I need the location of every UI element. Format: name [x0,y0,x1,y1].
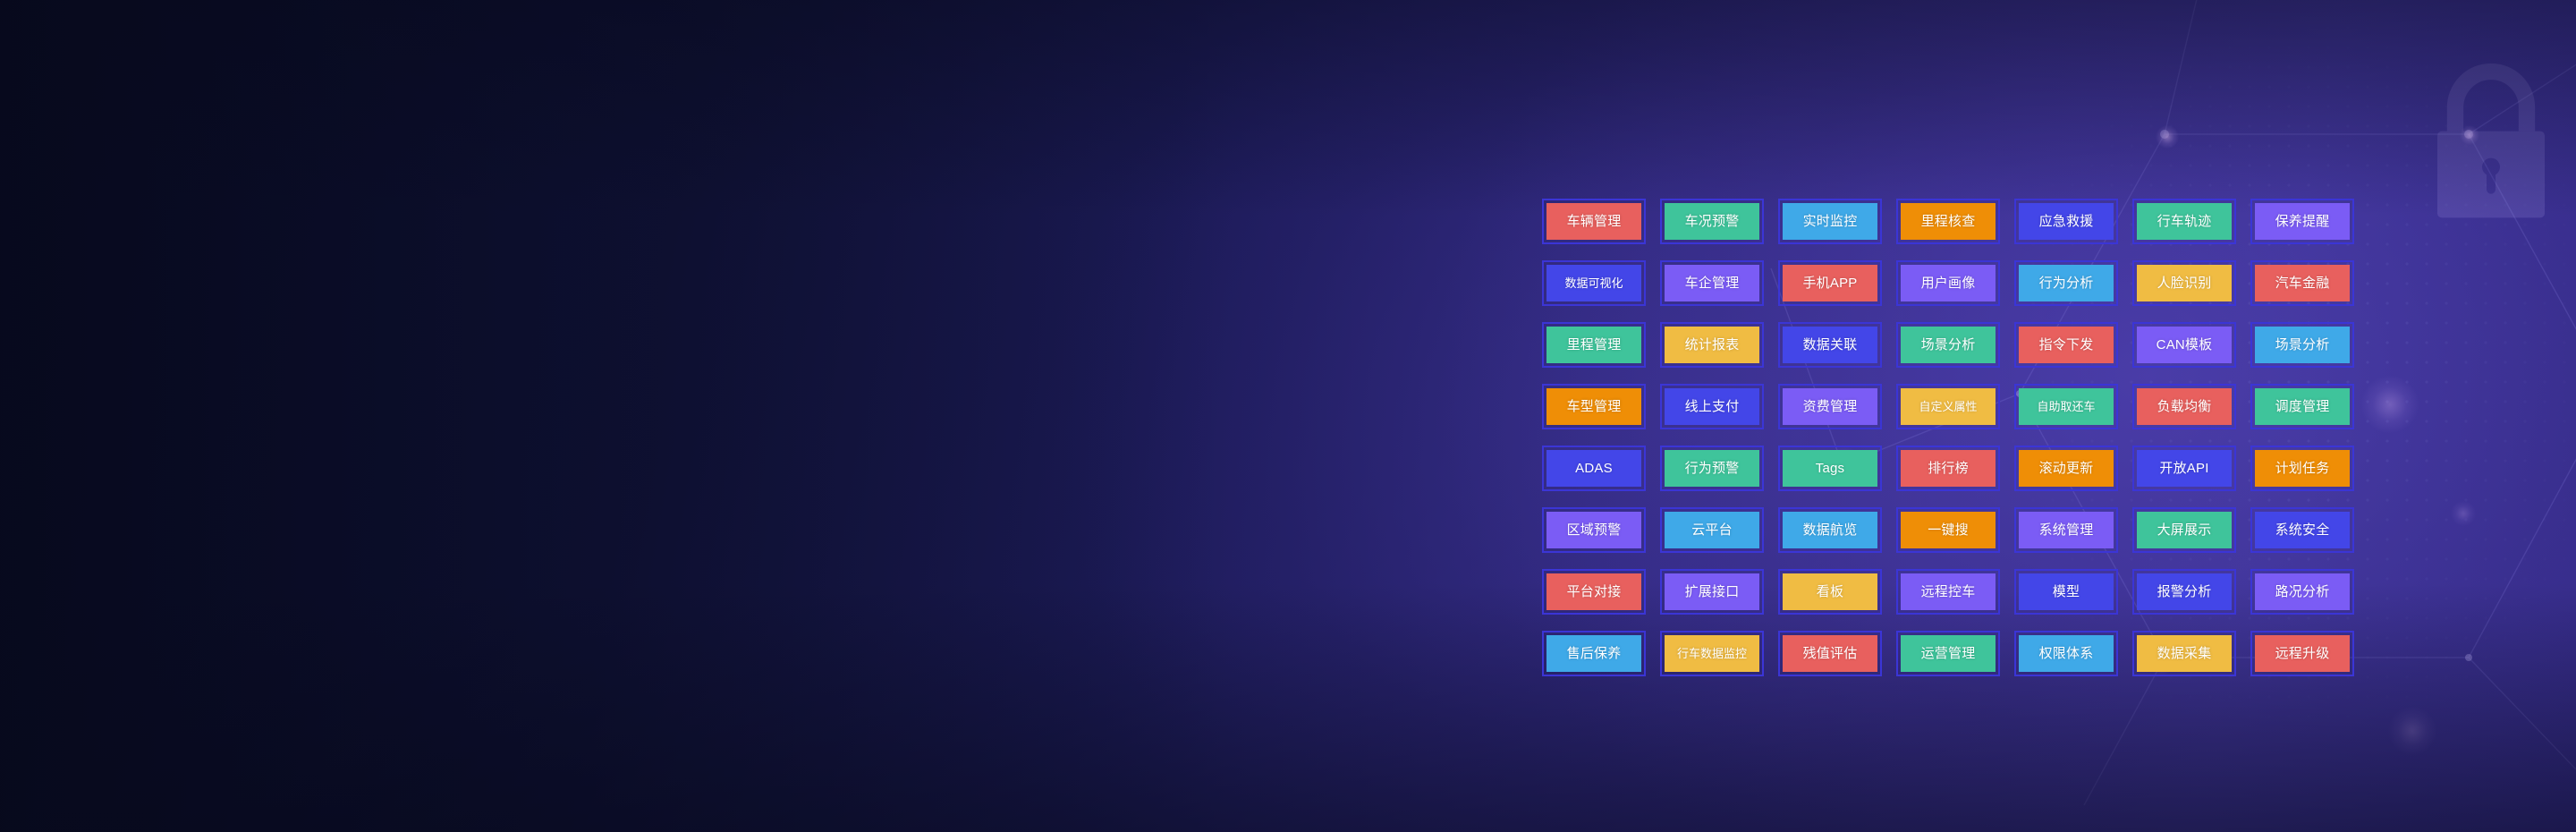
glow-node [2388,707,2436,755]
tag-behavior-alert[interactable]: 行为预警 [1653,437,1771,499]
tag-frame: 行车数据监控 [1660,631,1764,676]
tag-label: 车辆管理 [1546,203,1641,240]
tag-frame: 运营管理 [1896,631,2000,676]
tag-remote-upgrade[interactable]: 远程升级 [2243,623,2361,684]
tag-label: ADAS [1546,450,1641,487]
glow-node [2156,125,2179,149]
tag-label: 报警分析 [2137,573,2232,610]
tag-label: 运营管理 [1901,635,1996,672]
tag-adas[interactable]: ADAS [1535,437,1653,499]
tag-label: 里程管理 [1546,327,1641,363]
tag-can-template[interactable]: CAN模板 [2125,314,2243,376]
tag-label: 开放API [2137,450,2232,487]
tag-label: 数据采集 [2137,635,2232,672]
tag-frame: 手机APP [1778,260,1882,306]
tag-frame: 系统安全 [2250,507,2354,553]
tag-road-condition-analysis[interactable]: 路况分析 [2243,561,2361,623]
tag-frame: 数据关联 [1778,322,1882,368]
tag-frame: 数据航览 [1778,507,1882,553]
feature-tag-grid: 车辆管理车况预警实时监控里程核查应急救援行车轨迹保养提醒数据可视化车企管理手机A… [1535,191,2361,684]
tag-maintenance-reminder[interactable]: 保养提醒 [2243,191,2361,252]
tag-label: 指令下发 [2019,327,2114,363]
tag-scheduled-task[interactable]: 计划任务 [2243,437,2361,499]
tag-label: 数据关联 [1783,327,1877,363]
glow-node [2460,125,2479,145]
tag-label: 汽车金融 [2255,265,2350,301]
tag-frame: 数据采集 [2132,631,2236,676]
tag-frame: 行为预警 [1660,446,1764,491]
tag-tags[interactable]: Tags [1771,437,1889,499]
tag-command-dispatch[interactable]: 指令下发 [2007,314,2125,376]
tag-frame: 权限体系 [2014,631,2118,676]
tag-vehicle-management[interactable]: 车辆管理 [1535,191,1653,252]
tag-frame: 线上支付 [1660,384,1764,429]
tag-label: 平台对接 [1546,573,1641,610]
tag-label: 路况分析 [2255,573,2350,610]
tag-platform-integration[interactable]: 平台对接 [1535,561,1653,623]
screenshot-stage: 车辆管理车况预警实时监控里程核查应急救援行车轨迹保养提醒数据可视化车企管理手机A… [0,0,2576,832]
tag-frame: 滚动更新 [2014,446,2118,491]
tag-frame: 负载均衡 [2132,384,2236,429]
tag-frame: Tags [1778,446,1882,491]
tag-automaker-management[interactable]: 车企管理 [1653,252,1771,314]
tag-label: 行为预警 [1665,450,1759,487]
tag-frame: 调度管理 [2250,384,2354,429]
tag-frame: 残值评估 [1778,631,1882,676]
tag-label: 统计报表 [1665,327,1759,363]
tag-one-click-search[interactable]: 一键搜 [1889,499,2007,561]
tag-label: Tags [1783,450,1877,487]
tag-label: 手机APP [1783,265,1877,301]
tag-frame: 路况分析 [2250,569,2354,615]
tag-driving-data-monitoring[interactable]: 行车数据监控 [1653,623,1771,684]
tag-label: 残值评估 [1783,635,1877,672]
tag-frame: 汽车金融 [2250,260,2354,306]
tag-mobile-app[interactable]: 手机APP [1771,252,1889,314]
tag-label: 车型管理 [1546,388,1641,425]
tag-label: 一键搜 [1901,512,1996,548]
tag-remote-vehicle-control[interactable]: 远程控车 [1889,561,2007,623]
tag-label: 行为分析 [2019,265,2114,301]
tag-label: 数据可视化 [1546,265,1641,301]
tag-data-collection[interactable]: 数据采集 [2125,623,2243,684]
tag-frame: 扩展接口 [1660,569,1764,615]
tag-dispatch-management[interactable]: 调度管理 [2243,376,2361,437]
tag-frame: 远程升级 [2250,631,2354,676]
tag-frame: 排行榜 [1896,446,2000,491]
tag-frame: 指令下发 [2014,322,2118,368]
tag-frame: 里程核查 [1896,199,2000,244]
tag-frame: 开放API [2132,446,2236,491]
tag-frame: 一键搜 [1896,507,2000,553]
tag-label: 车企管理 [1665,265,1759,301]
tag-label: 行车数据监控 [1665,635,1759,672]
tag-label: 用户画像 [1901,265,1996,301]
tag-statistical-report[interactable]: 统计报表 [1653,314,1771,376]
tag-frame: 车型管理 [1542,384,1646,429]
tag-after-sales-maintenance[interactable]: 售后保养 [1535,623,1653,684]
tag-cloud-platform[interactable]: 云平台 [1653,499,1771,561]
tag-label: 行车轨迹 [2137,203,2232,240]
tag-label: 滚动更新 [2019,450,2114,487]
tag-label: 自助取还车 [2019,388,2114,425]
tag-frame: 用户画像 [1896,260,2000,306]
tag-frame: 实时监控 [1778,199,1882,244]
tag-frame: 自助取还车 [2014,384,2118,429]
tag-mileage-management[interactable]: 里程管理 [1535,314,1653,376]
tag-scenario-analysis[interactable]: 场景分析 [1889,314,2007,376]
tag-label: 线上支付 [1665,388,1759,425]
tag-frame: 车辆管理 [1542,199,1646,244]
tag-label: CAN模板 [2137,327,2232,363]
lock-icon [2415,54,2567,233]
tag-label: 人脸识别 [2137,265,2232,301]
tag-label: 模型 [2019,573,2114,610]
tag-realtime-monitoring[interactable]: 实时监控 [1771,191,1889,252]
tag-label: 场景分析 [2255,327,2350,363]
tag-behavior-analysis[interactable]: 行为分析 [2007,252,2125,314]
tag-data-visualization[interactable]: 数据可视化 [1535,252,1653,314]
tag-label: 远程升级 [2255,635,2350,672]
tag-tariff-management[interactable]: 资费管理 [1771,376,1889,437]
tag-frame: 车企管理 [1660,260,1764,306]
tag-system-security[interactable]: 系统安全 [2243,499,2361,561]
tag-auto-finance[interactable]: 汽车金融 [2243,252,2361,314]
tag-data-navigation[interactable]: 数据航览 [1771,499,1889,561]
tag-label: 计划任务 [2255,450,2350,487]
tag-model-management[interactable]: 车型管理 [1535,376,1653,437]
tag-system-management[interactable]: 系统管理 [2007,499,2125,561]
tag-frame: 行为分析 [2014,260,2118,306]
tag-rolling-update[interactable]: 滚动更新 [2007,437,2125,499]
tag-label: 自定义属性 [1901,388,1996,425]
tag-face-recognition[interactable]: 人脸识别 [2125,252,2243,314]
tag-extension-interface[interactable]: 扩展接口 [1653,561,1771,623]
tag-frame: 远程控车 [1896,569,2000,615]
tag-frame: 数据可视化 [1542,260,1646,306]
tag-residual-value-assessment[interactable]: 残值评估 [1771,623,1889,684]
tag-emergency-rescue[interactable]: 应急救援 [2007,191,2125,252]
tag-label: 调度管理 [2255,388,2350,425]
tag-label: 里程核查 [1901,203,1996,240]
tag-driving-track[interactable]: 行车轨迹 [2125,191,2243,252]
tag-load-balancing[interactable]: 负载均衡 [2125,376,2243,437]
tag-label: 应急救援 [2019,203,2114,240]
tag-label: 扩展接口 [1665,573,1759,610]
tag-permission-system[interactable]: 权限体系 [2007,623,2125,684]
glow-node [2361,376,2419,433]
tag-frame: 行车轨迹 [2132,199,2236,244]
tag-frame: 统计报表 [1660,322,1764,368]
tag-frame: 人脸识别 [2132,260,2236,306]
tag-frame: 模型 [2014,569,2118,615]
tag-frame: 车况预警 [1660,199,1764,244]
tag-frame: 应急救援 [2014,199,2118,244]
tag-open-api[interactable]: 开放API [2125,437,2243,499]
tag-label: 云平台 [1665,512,1759,548]
tag-frame: 里程管理 [1542,322,1646,368]
tag-regional-alert[interactable]: 区域预警 [1535,499,1653,561]
tag-label: 资费管理 [1783,388,1877,425]
tag-dashboard[interactable]: 看板 [1771,561,1889,623]
tag-label: 售后保养 [1546,635,1641,672]
tag-scenario-analysis-2[interactable]: 场景分析 [2243,314,2361,376]
tag-frame: 场景分析 [1896,322,2000,368]
tag-label: 负载均衡 [2137,388,2232,425]
tag-frame: 系统管理 [2014,507,2118,553]
tag-frame: 计划任务 [2250,446,2354,491]
tag-operation-management[interactable]: 运营管理 [1889,623,2007,684]
tag-model[interactable]: 模型 [2007,561,2125,623]
tag-frame: 自定义属性 [1896,384,2000,429]
tag-frame: 报警分析 [2132,569,2236,615]
tag-large-screen-display[interactable]: 大屏展示 [2125,499,2243,561]
tag-frame: ADAS [1542,446,1646,491]
tag-label: 远程控车 [1901,573,1996,610]
tag-frame: 售后保养 [1542,631,1646,676]
tag-frame: 大屏展示 [2132,507,2236,553]
tag-frame: 区域预警 [1542,507,1646,553]
tag-frame: 云平台 [1660,507,1764,553]
tag-label: 实时监控 [1783,203,1877,240]
tag-label: 权限体系 [2019,635,2114,672]
tag-label: 大屏展示 [2137,512,2232,548]
tag-label: 保养提醒 [2255,203,2350,240]
tag-label: 排行榜 [1901,450,1996,487]
tag-self-service-pickup-return[interactable]: 自助取还车 [2007,376,2125,437]
tag-frame: 看板 [1778,569,1882,615]
tag-label: 场景分析 [1901,327,1996,363]
tag-mileage-verification[interactable]: 里程核查 [1889,191,2007,252]
tag-data-association[interactable]: 数据关联 [1771,314,1889,376]
tag-online-payment[interactable]: 线上支付 [1653,376,1771,437]
tag-frame: 保养提醒 [2250,199,2354,244]
tag-leaderboard[interactable]: 排行榜 [1889,437,2007,499]
tag-custom-attributes[interactable]: 自定义属性 [1889,376,2007,437]
glow-node [2451,501,2476,526]
tag-label: 数据航览 [1783,512,1877,548]
tag-frame: 场景分析 [2250,322,2354,368]
tag-label: 车况预警 [1665,203,1759,240]
tag-vehicle-condition-alert[interactable]: 车况预警 [1653,191,1771,252]
tag-alarm-analysis[interactable]: 报警分析 [2125,561,2243,623]
tag-frame: 平台对接 [1542,569,1646,615]
tag-label: 系统管理 [2019,512,2114,548]
tag-label: 系统安全 [2255,512,2350,548]
tag-frame: CAN模板 [2132,322,2236,368]
tag-user-profile[interactable]: 用户画像 [1889,252,2007,314]
tag-label: 区域预警 [1546,512,1641,548]
tag-label: 看板 [1783,573,1877,610]
tag-frame: 资费管理 [1778,384,1882,429]
